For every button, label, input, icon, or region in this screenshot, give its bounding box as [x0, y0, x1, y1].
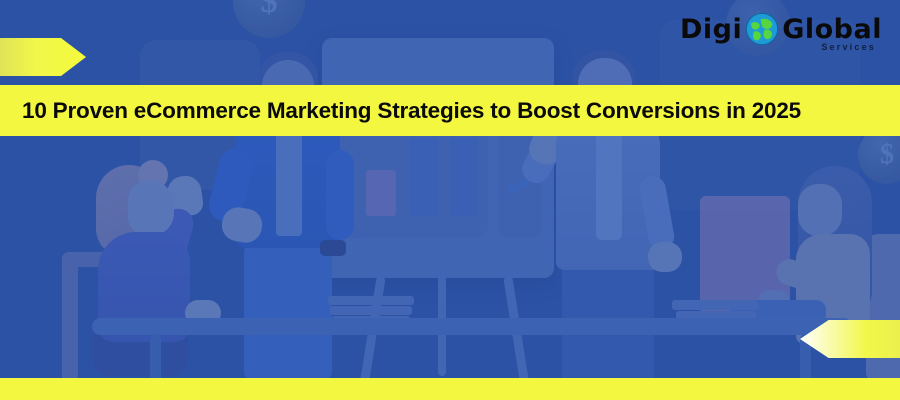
stacked-books [672, 300, 758, 310]
bottom-accent-bar [0, 378, 900, 400]
stacked-books [330, 306, 412, 315]
standing-man-legs [244, 240, 332, 380]
meeting-table [92, 318, 852, 335]
dollar-coin-icon: $ [233, 0, 305, 38]
chart-bar [410, 138, 438, 216]
blog-header-banner: $ $ $ [0, 0, 900, 400]
chart-bar [366, 170, 396, 216]
presenter-shirt [596, 120, 622, 240]
illustration-scene: $ $ $ [0, 0, 900, 400]
presentation-board [322, 38, 554, 278]
chart-bar [450, 138, 478, 216]
stacked-books [328, 296, 414, 305]
seated-woman-right-head [798, 184, 842, 236]
globe-icon [745, 12, 779, 46]
logo-wordmark: Digi Global [680, 12, 882, 46]
presenter-hand [648, 242, 682, 272]
coin-symbol: $ [261, 0, 278, 21]
chair-post [62, 252, 78, 382]
logo-word-digi: Digi [680, 14, 742, 45]
standing-man-arm [326, 150, 354, 240]
logo-word-global: Global [782, 14, 882, 45]
page-title: 10 Proven eCommerce Marketing Strategies… [22, 98, 801, 124]
wristwatch [320, 240, 346, 256]
bar-chart-graphic [338, 128, 488, 238]
coin-symbol: $ [880, 139, 894, 171]
seated-woman-left-head [128, 180, 174, 236]
title-banner: 10 Proven eCommerce Marketing Strategies… [0, 85, 900, 136]
logo-tagline: Services [821, 42, 876, 52]
brand-logo[interactable]: Digi Global Services [680, 12, 882, 52]
